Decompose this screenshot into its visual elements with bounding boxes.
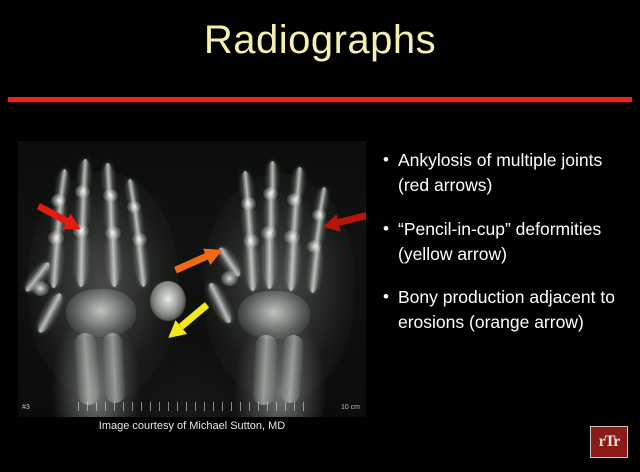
carpal-bones — [66, 289, 136, 337]
joint — [48, 231, 64, 245]
joint — [75, 185, 90, 198]
bullet-marker-icon: • — [383, 217, 398, 267]
bullet-marker-icon: • — [383, 285, 398, 335]
bullet-text: Bony production adjacent to erosions (or… — [398, 285, 631, 335]
bullet-marker-icon: • — [383, 148, 398, 198]
joint — [263, 187, 278, 200]
joint — [307, 240, 322, 253]
list-item: • “Pencil-in-cup” deformities (yellow ar… — [383, 217, 631, 267]
page-title: Radiographs — [0, 18, 640, 63]
slide: Radiographs — [0, 0, 640, 472]
joint — [243, 234, 259, 248]
joint — [241, 197, 256, 210]
bony-production-blob — [150, 281, 186, 321]
carpal-bones — [238, 291, 310, 339]
bullet-text: Ankylosis of multiple joints (red arrows… — [398, 148, 631, 198]
joint — [132, 233, 147, 246]
joint — [105, 226, 121, 240]
radius — [252, 334, 278, 405]
image-caption: Image courtesy of Michael Sutton, MD — [18, 420, 366, 432]
image-corner-label-right: 10 cm — [341, 404, 360, 411]
title-divider — [8, 97, 632, 102]
list-item: • Ankylosis of multiple joints (red arro… — [383, 148, 631, 198]
ulna — [102, 333, 126, 404]
organization-logo: rTr — [590, 426, 628, 458]
joint — [287, 193, 302, 206]
list-item: • Bony production adjacent to erosions (… — [383, 285, 631, 335]
joint — [261, 226, 277, 240]
bullet-list: • Ankylosis of multiple joints (red arro… — [383, 148, 631, 354]
image-corner-label-left: #3 — [22, 404, 30, 411]
radiograph-canvas: #3 10 cm — [18, 141, 366, 417]
soft-tissue-right — [204, 173, 354, 401]
radiograph-image: #3 10 cm — [18, 141, 366, 417]
joint — [284, 230, 300, 244]
scale-ruler — [78, 402, 308, 411]
joint — [51, 194, 66, 207]
joint — [221, 271, 238, 286]
bullet-text: “Pencil-in-cup” deformities (yellow arro… — [398, 217, 631, 267]
joint — [103, 189, 118, 202]
joint — [32, 281, 49, 296]
joint — [127, 201, 141, 213]
